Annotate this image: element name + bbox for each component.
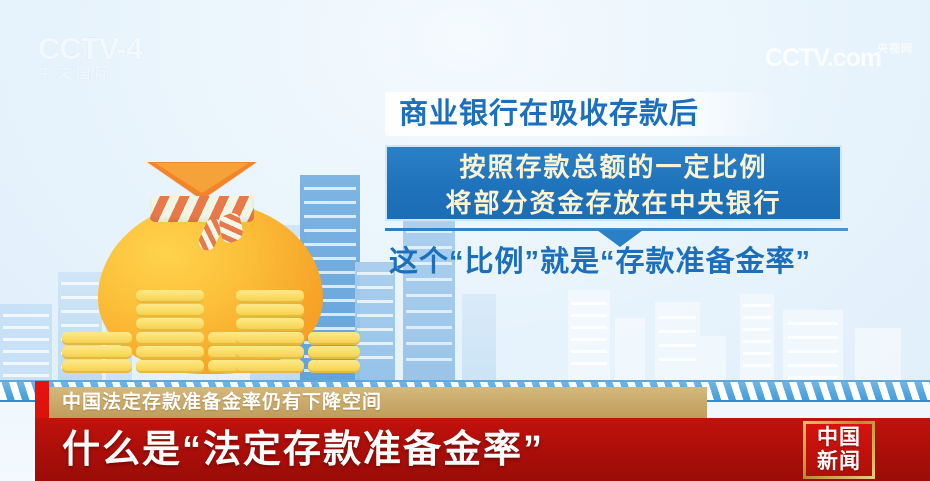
- cctv4-subtitle: 中文国际: [38, 65, 163, 81]
- money-bag-illustration: [60, 150, 360, 385]
- background-building: [462, 294, 496, 390]
- coin: [136, 346, 204, 359]
- cctv-com-watermark: CCTV.com 央视网: [765, 44, 915, 80]
- coin: [308, 346, 360, 359]
- china-news-logo-inner: 中国 新闻: [806, 424, 872, 476]
- callout-box: 按照存款总额的一定比例 将部分资金存放在中央银行: [385, 145, 842, 221]
- coin: [236, 360, 304, 373]
- coin: [136, 360, 204, 373]
- coin: [236, 346, 304, 359]
- bag-opening-inner: [155, 163, 249, 193]
- callout-line-1: 按照存款总额的一定比例: [387, 149, 840, 185]
- cctv4-watermark: CCTV-4 中文国际: [38, 33, 163, 85]
- coin: [236, 304, 304, 317]
- callout-line-2: 将部分资金存放在中央银行: [387, 185, 840, 221]
- cctv4-wordmark: CCTV-4: [38, 33, 163, 65]
- china-news-logo: 中国 新闻: [803, 421, 875, 479]
- ghost-building: [568, 290, 610, 390]
- coin: [62, 360, 132, 373]
- ghost-building: [655, 302, 700, 390]
- ghost-building: [740, 294, 774, 390]
- conclusion-line-text: 这个“比例”就是“存款准备金率”: [389, 240, 811, 284]
- china-news-logo-line2: 新闻: [817, 450, 861, 474]
- coin: [236, 332, 304, 345]
- ghost-building: [783, 310, 843, 390]
- subtitle-text: 中国法定存款准备金率仍有下降空间: [62, 388, 382, 418]
- coin: [136, 290, 204, 303]
- cctv-com-cn-name: 央视网: [877, 40, 913, 56]
- coin: [308, 332, 360, 345]
- coin: [62, 346, 132, 359]
- coin: [236, 318, 304, 331]
- intro-line-text: 商业银行在吸收存款后: [399, 94, 699, 134]
- coin: [308, 360, 360, 373]
- coin: [136, 332, 204, 345]
- coin: [236, 290, 304, 303]
- coin: [136, 318, 204, 331]
- headline-text: 什么是“法定存款准备金率”: [62, 424, 544, 476]
- china-news-logo-line1: 中国: [817, 426, 861, 450]
- broadcast-frame: 商业银行在吸收存款后 按照存款总额的一定比例 将部分资金存放在中央银行 这个“比…: [0, 0, 930, 481]
- coin: [62, 332, 132, 345]
- coin: [136, 304, 204, 317]
- background-building: [0, 304, 52, 390]
